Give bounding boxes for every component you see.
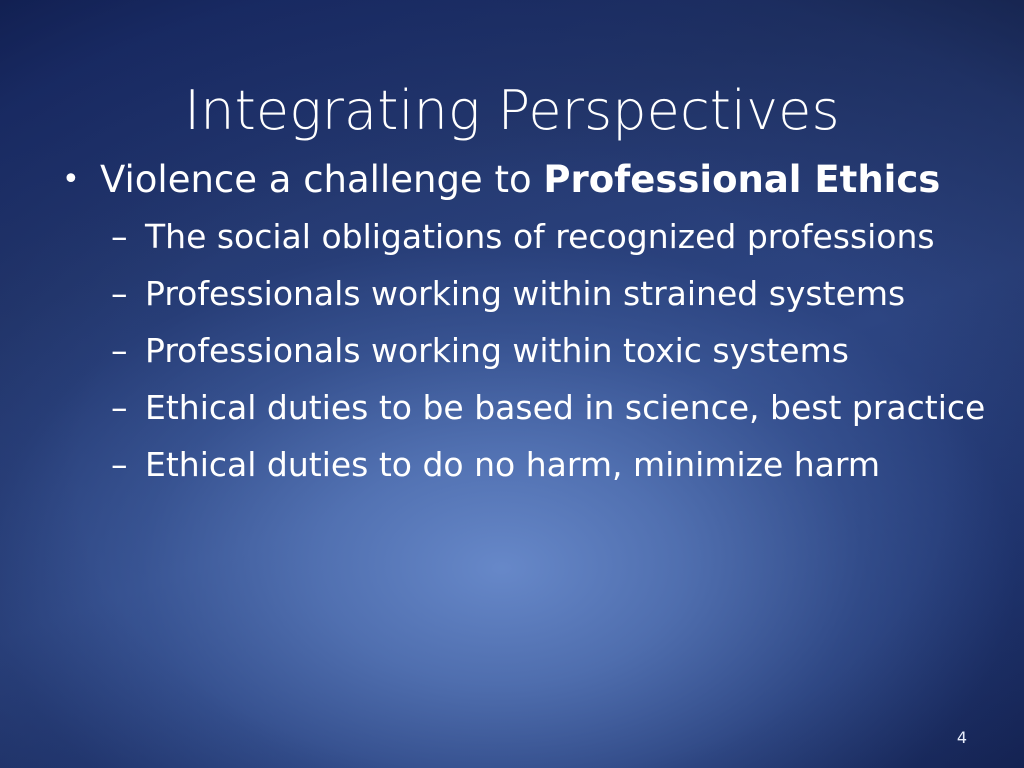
sub-list-container: – The social obligations of recognized p… xyxy=(0,208,1024,493)
slide-number: 4 xyxy=(957,730,967,746)
slide-content: Integrating Perspectives • Violence a ch… xyxy=(0,0,1024,768)
dash-icon: – xyxy=(111,322,128,379)
sub-bullet-item-5: – Ethical duties to do no harm, minimize… xyxy=(0,436,1024,493)
sub-bullet-item-1: – The social obligations of recognized p… xyxy=(0,208,1024,265)
dash-icon: – xyxy=(111,379,128,436)
sub-bullet-item-4: – Ethical duties to be based in science,… xyxy=(0,379,1024,436)
sub-bullet-text: The social obligations of recognized pro… xyxy=(145,217,935,256)
sub-bullet-text: Ethical duties to be based in science, b… xyxy=(145,388,985,427)
bullet-level1-text-normal: Violence a challenge to xyxy=(100,158,543,201)
dash-icon: – xyxy=(111,436,128,493)
sub-bullet-list: – The social obligations of recognized p… xyxy=(0,208,1024,493)
sub-bullet-item-3: – Professionals working within toxic sys… xyxy=(0,322,1024,379)
slide-body-list: • Violence a challenge to Professional E… xyxy=(0,152,1024,493)
bullet-level1-text-bold: Professional Ethics xyxy=(543,158,940,201)
dash-icon: – xyxy=(111,208,128,265)
sub-bullet-item-2: – Professionals working within strained … xyxy=(0,265,1024,322)
presentation-slide: Integrating Perspectives • Violence a ch… xyxy=(0,0,1024,768)
dash-icon: – xyxy=(111,265,128,322)
bullet-dot-icon: • xyxy=(62,152,80,208)
sub-bullet-text: Professionals working within strained sy… xyxy=(145,274,905,313)
sub-bullet-text: Ethical duties to do no harm, minimize h… xyxy=(145,445,880,484)
bullet-level1-item: • Violence a challenge to Professional E… xyxy=(0,152,1024,208)
slide-title: Integrating Perspectives xyxy=(0,82,1024,140)
sub-bullet-text: Professionals working within toxic syste… xyxy=(145,331,849,370)
